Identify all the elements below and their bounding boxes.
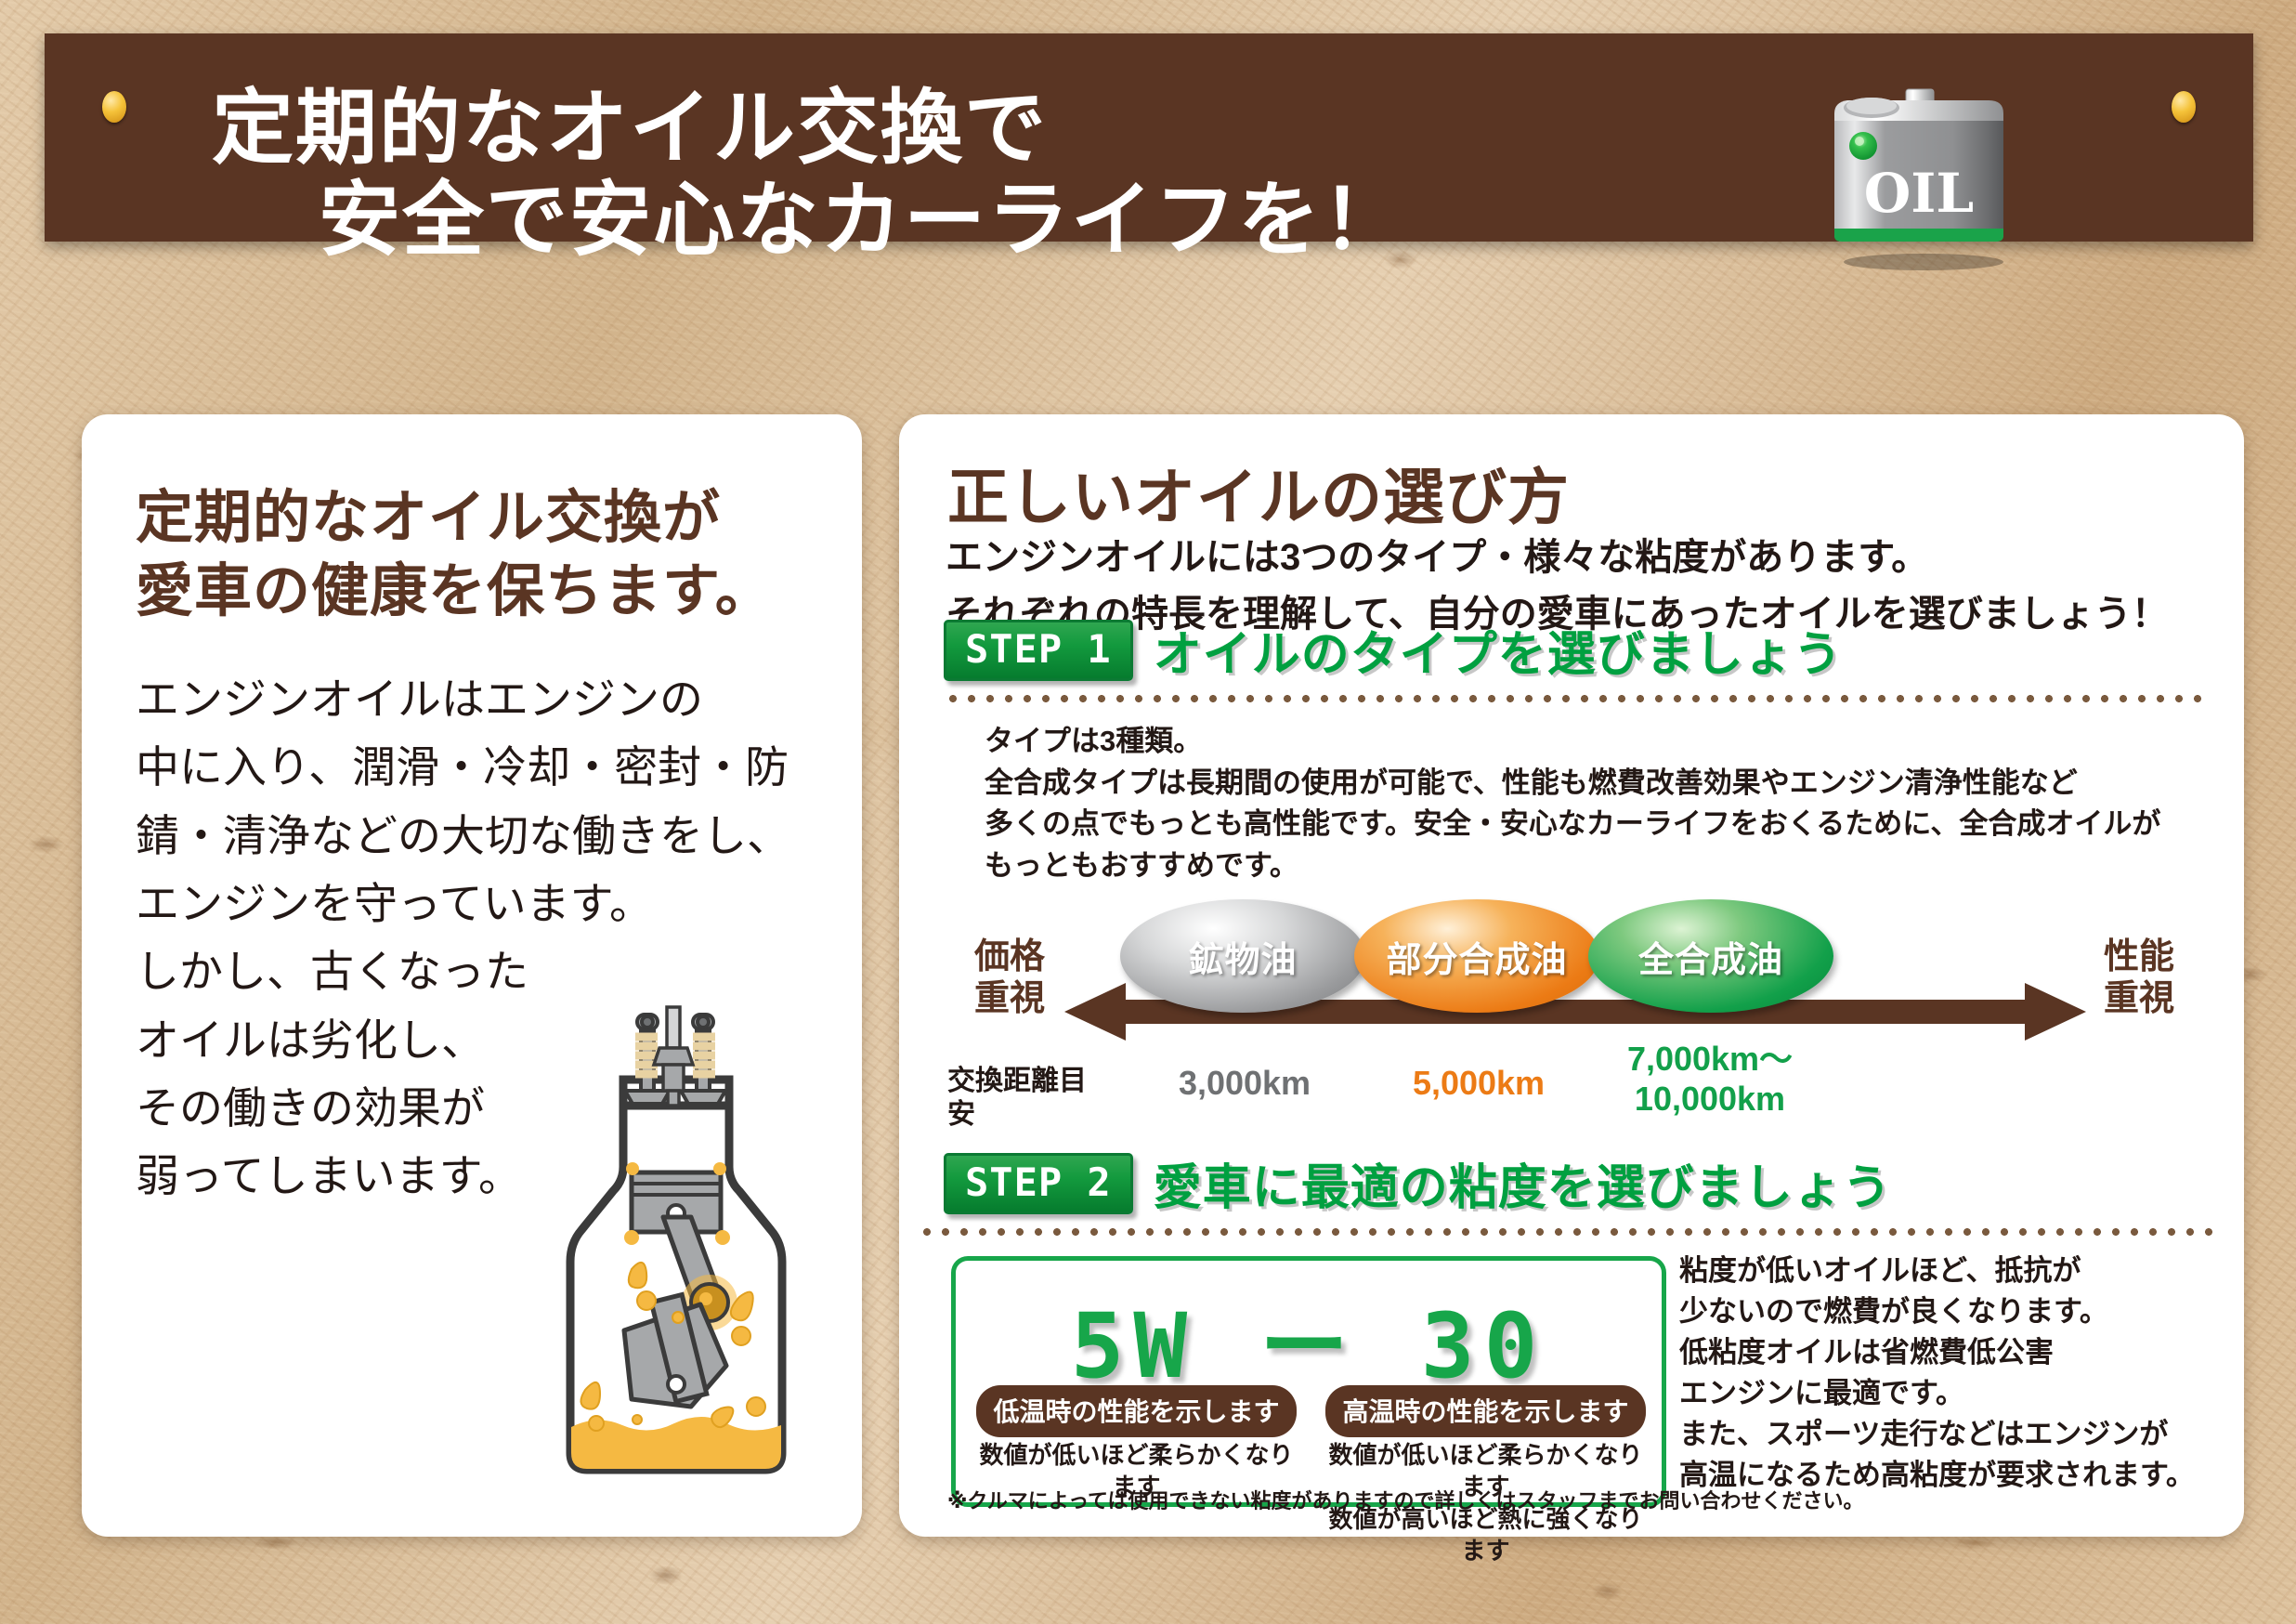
pill-low-temperature: 低温時の性能を示します [976, 1385, 1297, 1437]
engine-piston-illustration [528, 990, 825, 1483]
spectrum-row-label: 交換距離目安 [947, 1065, 1109, 1132]
divider-dots-1 [944, 695, 2203, 702]
oil-can-label: OIL [1864, 162, 1974, 225]
step-1-body: タイプは3種類。 全合成タイプは長期間の使用が可能で、性能も燃費改善効果やエンジ… [985, 721, 2211, 887]
footnote-text: ※クルマによっては使用できない粘度がありますので詳しくはスタッフまでお問い合わせ… [947, 1485, 2192, 1514]
bubble-mineral-oil: 鉱物油 [1120, 899, 1365, 1013]
step-1-title: オイルのタイプを選びましょう [1154, 615, 1843, 685]
divider-dots-2 [918, 1228, 2218, 1236]
banner-title: 定期的なオイル交換で安全で安心なカーライフを！ [212, 82, 1735, 265]
viscosity-grade-value: 5W ー 30 [956, 1274, 1662, 1403]
banner-title-line1: 定期的なオイル交換で [212, 79, 1048, 176]
pill-high-temperature: 高温時の性能を示します [1325, 1385, 1646, 1437]
oil-can-icon: OIL [1820, 74, 2019, 271]
step-1-badge: STEP 1 [944, 620, 1133, 681]
step-2-title: 愛車に最適の粘度を選びましょう [1154, 1148, 1892, 1218]
pushpin-right-icon [2172, 91, 2196, 123]
banner-title-line2: 安全で安心なカーライフを！ [212, 174, 1735, 266]
spectrum-left-axis-label: 価格 重視 [955, 936, 1064, 1020]
viscosity-grade-box: 5W ー 30 低温時の性能を示します 高温時の性能を示します 数値が低いほど柔… [951, 1256, 1666, 1507]
spectrum-value-mineral: 3,000km [1124, 1063, 1365, 1103]
bubble-full-synthetic-oil: 全合成油 [1588, 899, 1833, 1013]
left-card-heading: 定期的なオイル交換が 愛車の健康を保ちます。 [136, 481, 841, 629]
spectrum-value-full: 7,000km〜 10,000km [1585, 1039, 1835, 1119]
pushpin-left-icon [102, 91, 126, 123]
viscosity-side-text: 粘度が低いオイルほど、抵抗が 少ないので燃費が良くなります。 低粘度オイルは省燃… [1679, 1251, 2218, 1496]
right-card-title: 正しいオイルの選び方 [947, 448, 1570, 537]
spectrum-right-axis-label: 性能 重視 [2084, 936, 2194, 1020]
spectrum-value-partial: 5,000km [1358, 1063, 1599, 1103]
step-2-badge: STEP 2 [944, 1153, 1133, 1214]
header-banner: 定期的なオイル交換で安全で安心なカーライフを！ [45, 33, 2253, 242]
left-info-card: 定期的なオイル交換が 愛車の健康を保ちます。 エンジンオイルはエンジンの 中に入… [82, 414, 862, 1537]
right-info-card: 正しいオイルの選び方 エンジンオイルには3つのタイプ・様々な粘度があります。 そ… [899, 414, 2244, 1537]
step-1-header: STEP 1 オイルのタイプを選びましょう [944, 615, 1843, 685]
oil-type-spectrum-chart: 価格 重視 性能 重視 鉱物油 部分合成油 全合成油 交換距離目安 3,000k… [947, 897, 2201, 1125]
bubble-partial-synthetic-oil: 部分合成油 [1354, 899, 1599, 1013]
step-2-header: STEP 2 愛車に最適の粘度を選びましょう [944, 1148, 1892, 1218]
